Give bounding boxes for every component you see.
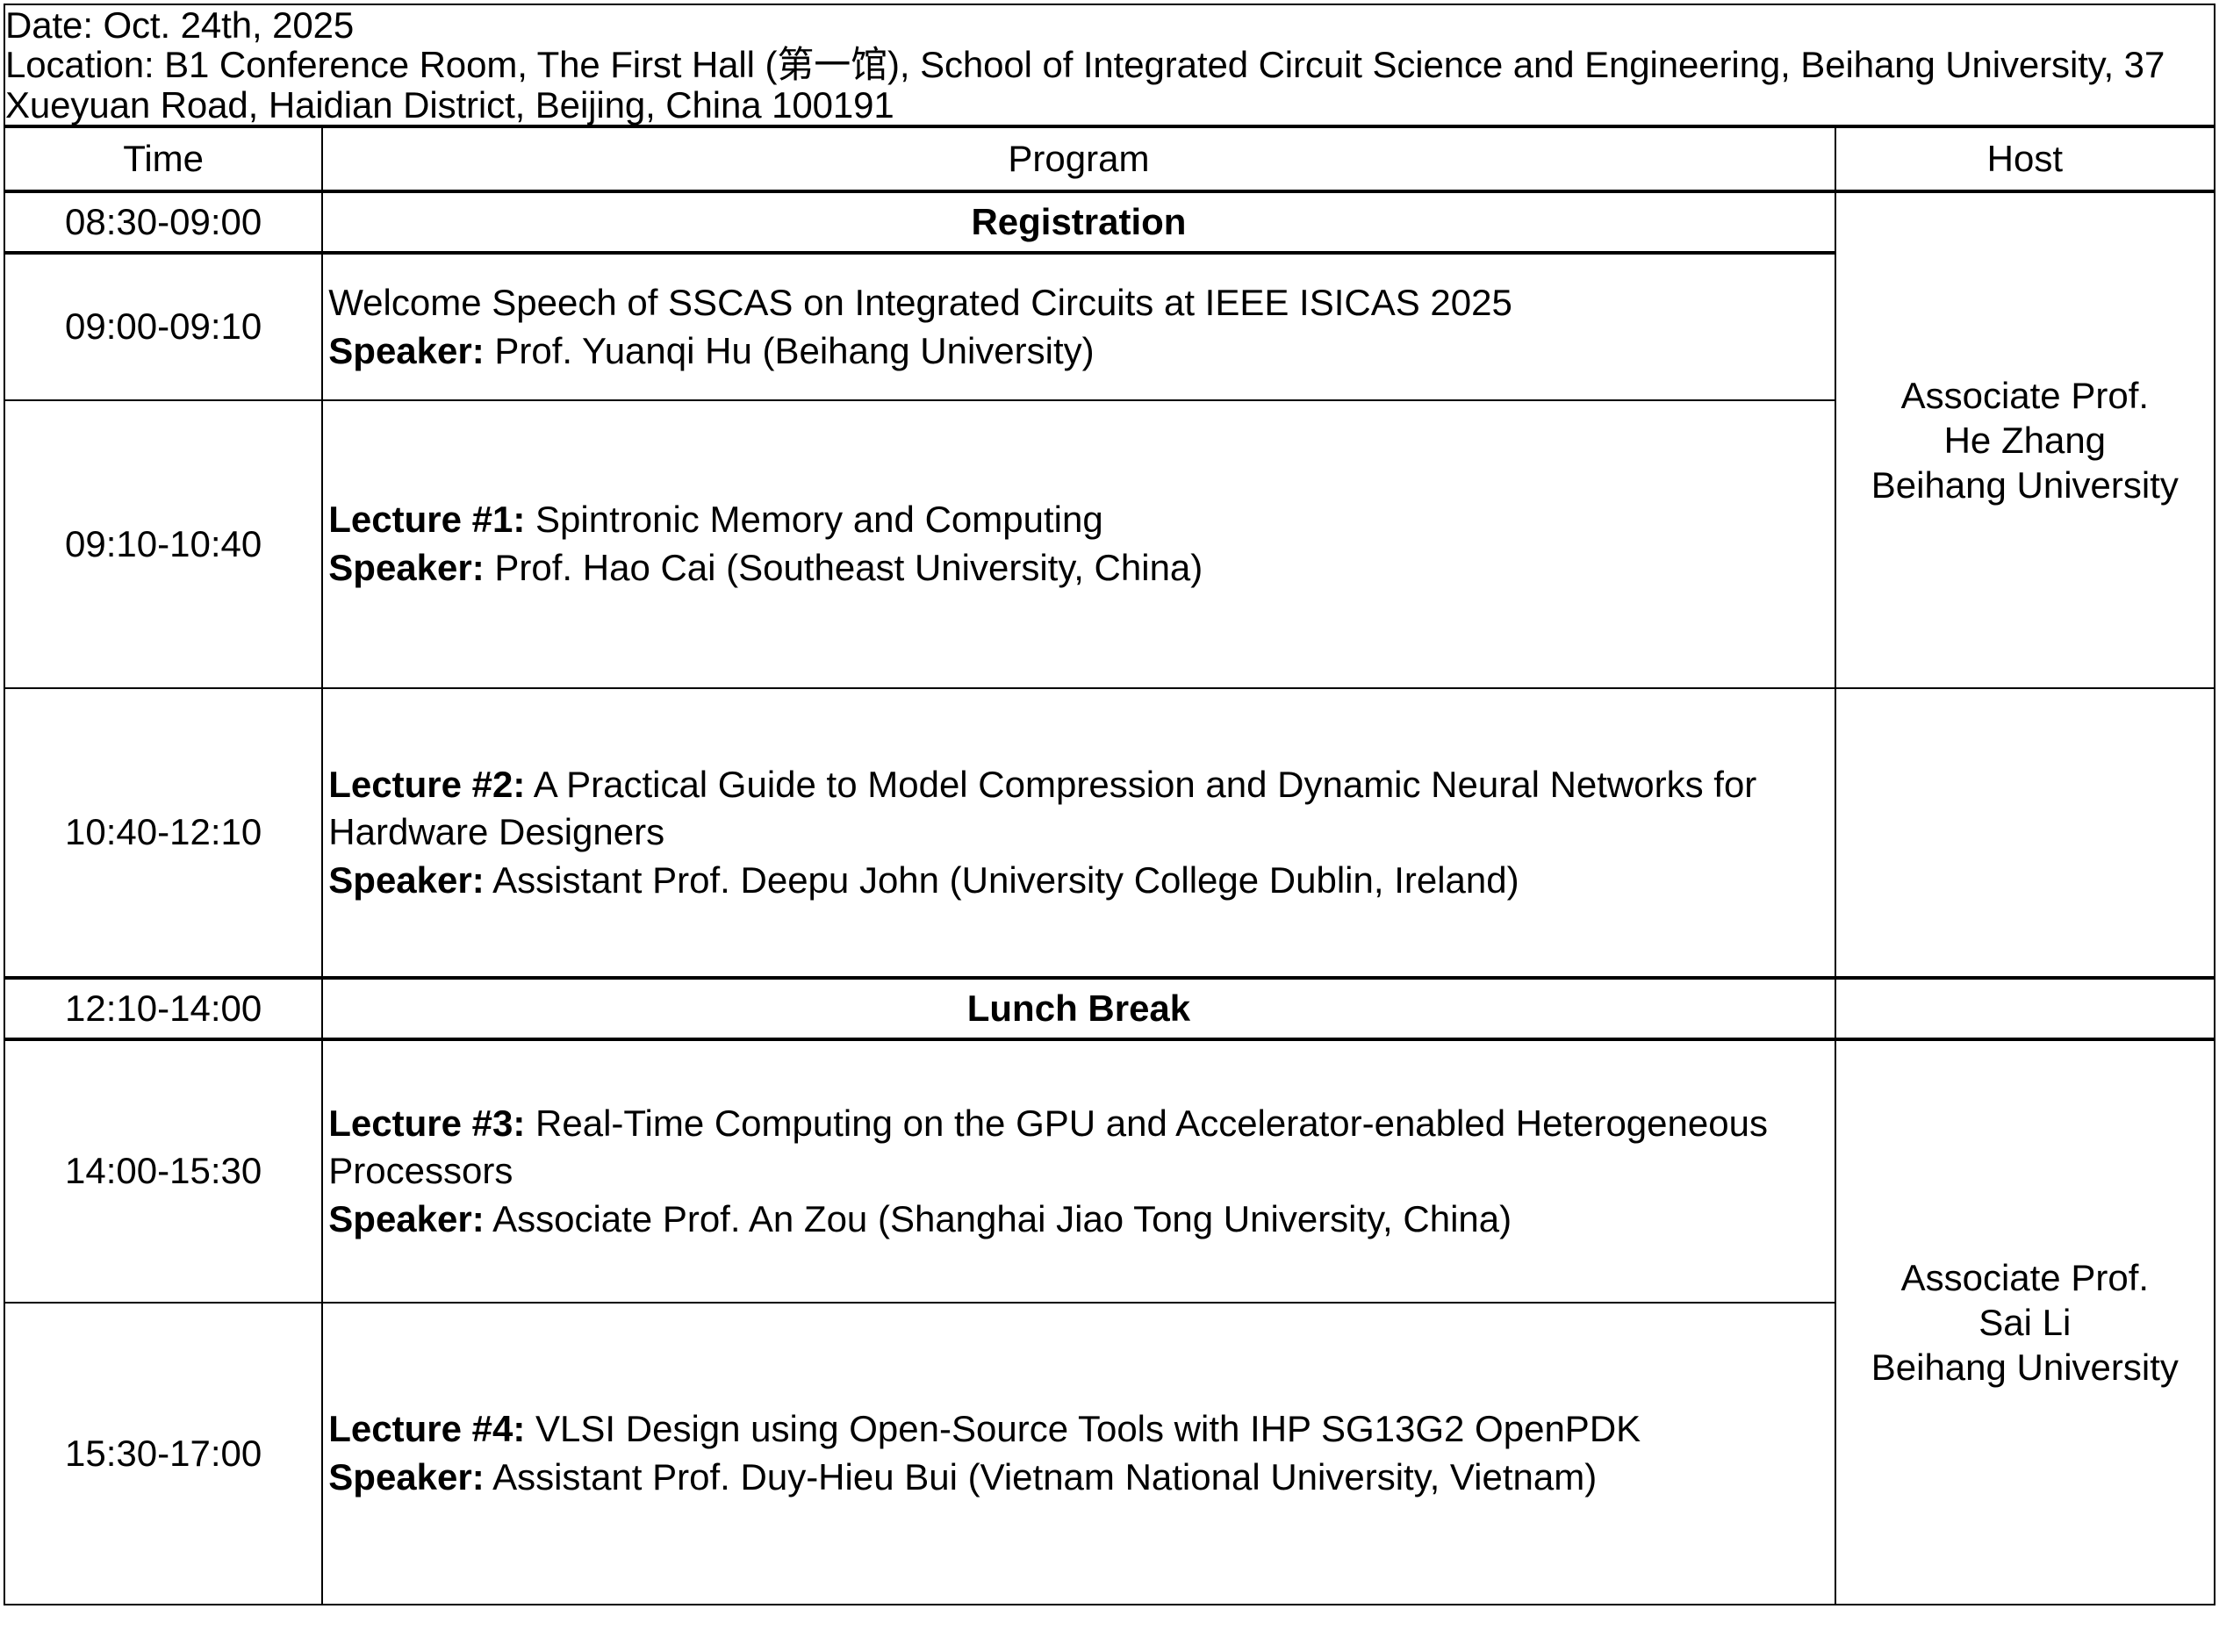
host-morning-title: Associate Prof. [1836, 373, 2214, 418]
lecture3-program-cell: Lecture #3: Real-Time Computing on the G… [322, 1039, 1835, 1303]
lecture1-title: Spintronic Memory and Computing [525, 499, 1102, 540]
table-row-lecture2: 10:40-12:10 Lecture #2: A Practical Guid… [4, 688, 2215, 978]
lecture4-title: VLSI Design using Open-Source Tools with… [525, 1408, 1641, 1449]
lecture2-program-cell: Lecture #2: A Practical Guide to Model C… [322, 688, 1835, 978]
lecture4-program-cell: Lecture #4: VLSI Design using Open-Sourc… [322, 1303, 1835, 1605]
lecture3-time: 14:00-15:30 [4, 1039, 322, 1303]
welcome-title: Welcome Speech of SSCAS on Integrated Ci… [328, 279, 1834, 327]
host-cell-morning-spacer [1835, 688, 2215, 978]
lecture3-title-line: Lecture #3: Real-Time Computing on the G… [328, 1100, 1834, 1196]
lunch-label: Lunch Break [322, 978, 1835, 1039]
lecture4-speaker-label: Speaker: [328, 1456, 484, 1498]
lecture1-title-line: Lecture #1: Spintronic Memory and Comput… [328, 496, 1834, 544]
host-afternoon-name: Sai Li [1836, 1300, 2214, 1345]
lecture1-program-cell: Lecture #1: Spintronic Memory and Comput… [322, 400, 1835, 688]
host-morning-affiliation: Beihang University [1836, 463, 2214, 507]
host-afternoon-title: Associate Prof. [1836, 1255, 2214, 1300]
lecture1-speaker-label: Speaker: [328, 547, 484, 588]
host-cell-morning: Associate Prof. He Zhang Beihang Univers… [1835, 191, 2215, 688]
lecture2-label: Lecture #2: [328, 764, 525, 805]
welcome-speaker: Prof. Yuanqi Hu (Beihang University) [485, 330, 1095, 371]
lecture1-time: 09:10-10:40 [4, 400, 322, 688]
lecture2-time: 10:40-12:10 [4, 688, 322, 978]
host-cell-afternoon: Associate Prof. Sai Li Beihang Universit… [1835, 1039, 2215, 1605]
host-afternoon-affiliation: Beihang University [1836, 1345, 2214, 1390]
lecture4-speaker-line: Speaker: Assistant Prof. Duy-Hieu Bui (V… [328, 1454, 1834, 1502]
header-info-row: Date: Oct. 24th, 2025 Location: B1 Confe… [4, 4, 2215, 126]
welcome-speaker-label: Speaker: [328, 330, 484, 371]
lunch-host-cell [1835, 978, 2215, 1039]
column-header-program: Program [322, 126, 1835, 191]
lecture1-speaker: Prof. Hao Cai (Southeast University, Chi… [485, 547, 1203, 588]
table-row-lunch: 12:10-14:00 Lunch Break [4, 978, 2215, 1039]
column-header-row: Time Program Host [4, 126, 2215, 191]
column-header-host: Host [1835, 126, 2215, 191]
lecture3-label: Lecture #3: [328, 1103, 525, 1144]
lecture3-speaker-line: Speaker: Associate Prof. An Zou (Shangha… [328, 1196, 1834, 1244]
lecture4-title-line: Lecture #4: VLSI Design using Open-Sourc… [328, 1405, 1834, 1454]
agenda-sheet: Date: Oct. 24th, 2025 Location: B1 Confe… [0, 4, 2219, 1652]
lecture4-label: Lecture #4: [328, 1408, 525, 1449]
lecture4-speaker: Assistant Prof. Duy-Hieu Bui (Vietnam Na… [485, 1456, 1598, 1498]
lecture2-speaker: Assistant Prof. Deepu John (University C… [485, 859, 1519, 901]
lecture2-title: A Practical Guide to Model Compression a… [328, 764, 1756, 853]
event-location-line: Location: B1 Conference Room, The First … [5, 45, 2214, 125]
lecture4-time: 15:30-17:00 [4, 1303, 322, 1605]
lecture3-title: Real-Time Computing on the GPU and Accel… [328, 1103, 1768, 1192]
welcome-time: 09:00-09:10 [4, 253, 322, 400]
registration-time: 08:30-09:00 [4, 191, 322, 253]
lecture2-title-line: Lecture #2: A Practical Guide to Model C… [328, 761, 1834, 857]
lecture3-speaker: Associate Prof. An Zou (Shanghai Jiao To… [485, 1198, 1512, 1239]
event-date-line: Date: Oct. 24th, 2025 [5, 5, 2214, 45]
table-row-registration: 08:30-09:00 Registration Associate Prof.… [4, 191, 2215, 253]
column-header-time: Time [4, 126, 322, 191]
lecture2-speaker-line: Speaker: Assistant Prof. Deepu John (Uni… [328, 857, 1834, 905]
lecture2-speaker-label: Speaker: [328, 859, 484, 901]
event-info-cell: Date: Oct. 24th, 2025 Location: B1 Confe… [4, 4, 2215, 126]
lecture3-speaker-label: Speaker: [328, 1198, 484, 1239]
lecture1-speaker-line: Speaker: Prof. Hao Cai (Southeast Univer… [328, 544, 1834, 593]
welcome-program-cell: Welcome Speech of SSCAS on Integrated Ci… [322, 253, 1835, 400]
table-row-lecture3: 14:00-15:30 Lecture #3: Real-Time Comput… [4, 1039, 2215, 1303]
registration-label: Registration [322, 191, 1835, 253]
agenda-table: Date: Oct. 24th, 2025 Location: B1 Confe… [4, 4, 2215, 1605]
welcome-speaker-line: Speaker: Prof. Yuanqi Hu (Beihang Univer… [328, 327, 1834, 376]
lunch-time: 12:10-14:00 [4, 978, 322, 1039]
lecture1-label: Lecture #1: [328, 499, 525, 540]
host-morning-name: He Zhang [1836, 418, 2214, 463]
